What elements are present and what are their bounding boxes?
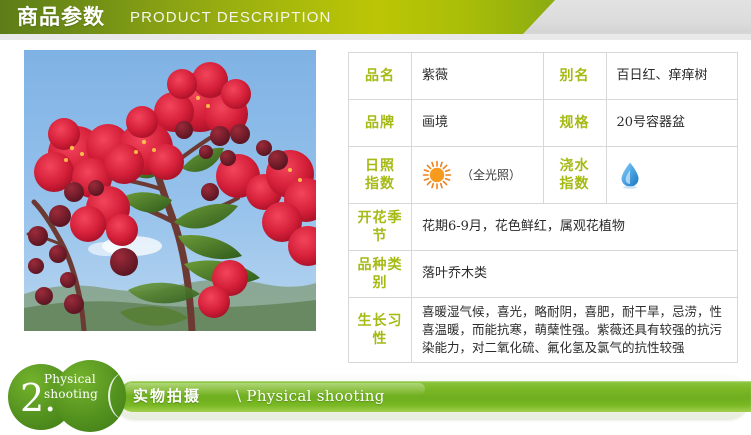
product-photo-illustration [24, 50, 316, 331]
section-badge: 2. Physical shooting [4, 358, 134, 435]
section-title-en: \ Physical shooting [236, 385, 385, 408]
spec-label-watering-index-line2: 指数 [546, 175, 604, 193]
header-underline [0, 34, 751, 40]
spec-value-bloom-season: 花期6-9月，花色鲜红，属观花植物 [412, 204, 738, 251]
spec-label-alias: 别名 [543, 53, 606, 100]
table-row: 品牌 画境 规格 20号容器盆 [349, 100, 738, 147]
spec-label-variety-type: 品种类别 [349, 251, 412, 298]
spec-value-sunlight-index: （全光照） [412, 147, 544, 204]
page-title-cn: 商品参数 [17, 3, 105, 31]
spec-value-growth-habit: 喜暖湿气候，喜光，略耐阴，喜肥，耐干旱，忌涝，性喜温暖，而能抗寒，萌蘖性强。紫薇… [412, 298, 737, 362]
page-title-en: PRODUCT DESCRIPTION [130, 8, 331, 28]
table-row: 品名 紫薇 别名 百日红、痒痒树 [349, 53, 738, 100]
product-photo [24, 50, 316, 331]
table-row: 生长习性 喜暖湿气候，喜光，略耐阴，喜肥，耐干旱，忌涝，性喜温暖，而能抗寒，萌蘖… [349, 298, 738, 363]
water-drop-icon [619, 161, 641, 189]
spec-label-watering-index: 浇水 指数 [543, 147, 606, 204]
spec-label-sunlight-index: 日照 指数 [349, 147, 412, 204]
sun-icon [422, 160, 452, 190]
spec-value-watering-index [606, 147, 738, 204]
spec-label-sunlight-index-line2: 指数 [351, 175, 409, 193]
spec-label-bloom-season: 开花季节 [349, 204, 412, 251]
spec-value-specification: 20号容器盆 [606, 100, 738, 147]
spec-label-product-name: 品名 [349, 53, 412, 100]
sunlight-note: （全光照） [461, 165, 521, 185]
badge-swoosh-icon [108, 372, 144, 420]
header-banner: 商品参数 PRODUCT DESCRIPTION [0, 0, 751, 40]
spec-label-specification: 规格 [543, 100, 606, 147]
spec-label-sunlight-index-line1: 日照 [351, 157, 409, 175]
spec-value-alias: 百日红、痒痒树 [606, 53, 738, 100]
spec-value-product-name: 紫薇 [412, 53, 544, 100]
spec-value-growth-habit-cell: 喜暖湿气候，喜光，略耐阴，喜肥，耐干旱，忌涝，性喜温暖，而能抗寒，萌蘖性强。紫薇… [412, 298, 738, 363]
table-row: 开花季节 花期6-9月，花色鲜红，属观花植物 [349, 204, 738, 251]
section-banner: 实物拍摄 \ Physical shooting 2. Physical sho… [0, 358, 751, 435]
spec-label-watering-index-line1: 浇水 [546, 157, 604, 175]
spec-label-growth-habit: 生长习性 [349, 298, 412, 363]
spec-value-brand: 画境 [412, 100, 544, 147]
spec-value-variety-type: 落叶乔木类 [412, 251, 738, 298]
table-row: 品种类别 落叶乔木类 [349, 251, 738, 298]
spec-label-brand: 品牌 [349, 100, 412, 147]
product-spec-table: 品名 紫薇 别名 百日红、痒痒树 品牌 画境 规格 20号容器盆 日照 指数 [348, 52, 738, 363]
table-row: 日照 指数 [349, 147, 738, 204]
